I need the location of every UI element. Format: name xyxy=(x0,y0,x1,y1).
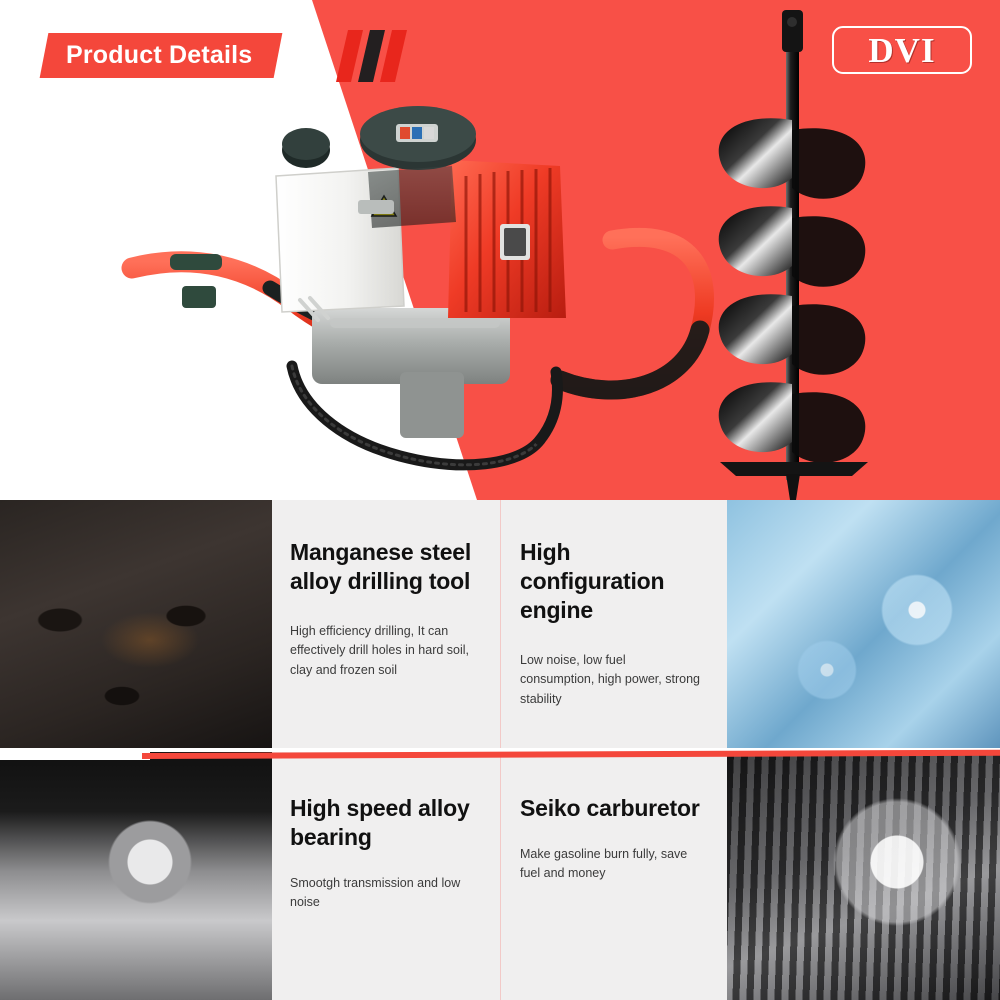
product-details-page: Product Details DVI Manganese steel allo… xyxy=(0,0,1000,1000)
banner-accent-stripes xyxy=(340,30,412,82)
brand-logo-text: DVI xyxy=(868,33,935,68)
engine-photo xyxy=(727,500,1000,748)
feature-description: High efficiency drilling, It can effecti… xyxy=(290,622,474,680)
feature-description: Smootgh transmission and low noise xyxy=(290,874,474,913)
product-details-banner: Product Details xyxy=(40,33,283,78)
feature-row-1: Manganese steel alloy drilling tool High… xyxy=(0,500,1000,748)
feature-image-engine xyxy=(727,500,1000,748)
feature-image-bearing xyxy=(0,752,272,1000)
bearing-photo xyxy=(0,752,272,1000)
feature-description: Make gasoline burn fully, save fuel and … xyxy=(520,845,701,884)
soil-drilling-photo xyxy=(0,500,272,748)
feature-title: High speed alloy bearing xyxy=(290,794,474,852)
feature-image-carburetor xyxy=(727,752,1000,1000)
feature-title: Manganese steel alloy drilling tool xyxy=(290,538,474,596)
feature-title: High configuration engine xyxy=(520,538,701,625)
feature-image-drilling xyxy=(0,500,272,748)
banner-label: Product Details xyxy=(66,41,252,70)
hero-banner: Product Details DVI xyxy=(0,0,1000,500)
feature-row-2: High speed alloy bearing Smootgh transmi… xyxy=(0,752,1000,1000)
feature-grid: Manganese steel alloy drilling tool High… xyxy=(0,500,1000,1000)
feature-description: Low noise, low fuel consumption, high po… xyxy=(520,651,701,709)
feature-title: Seiko carburetor xyxy=(520,794,701,823)
feature-card-engine: High configuration engine Low noise, low… xyxy=(500,500,727,748)
feature-card-carburetor: Seiko carburetor Make gasoline burn full… xyxy=(500,752,727,1000)
stripe-red-2 xyxy=(380,30,407,82)
carburetor-photo xyxy=(727,752,1000,1000)
feature-card-bearing: High speed alloy bearing Smootgh transmi… xyxy=(272,752,500,1000)
brand-logo: DVI xyxy=(832,26,972,74)
feature-card-manganese-steel: Manganese steel alloy drilling tool High… xyxy=(272,500,500,748)
